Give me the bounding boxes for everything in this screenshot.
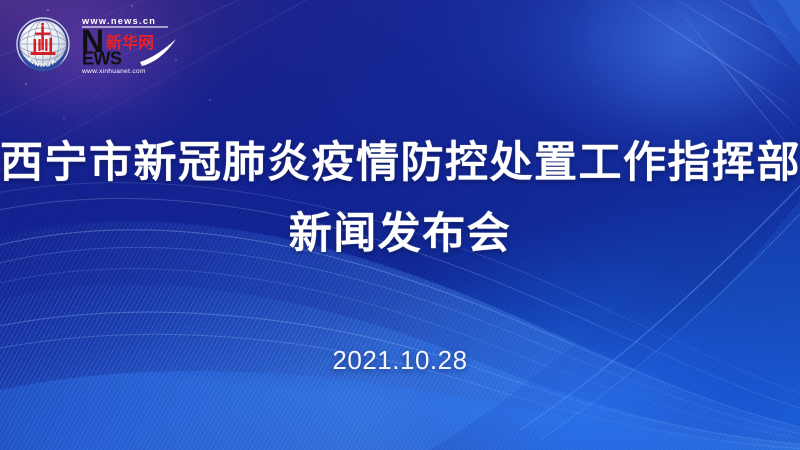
page-title-line-2: 新闻发布会 bbox=[0, 204, 800, 264]
xinhua-logo[interactable]: XINHUA www.news.cn N EWS 新华网 www.xinhuan… bbox=[14, 14, 188, 74]
xinhua-wordmark: www.news.cn N EWS 新华网 www.xinhuanet.com bbox=[80, 14, 188, 74]
title-block: 西宁市新冠肺炎疫情防控处置工作指挥部 新闻发布会 bbox=[0, 133, 800, 264]
xinhua-emblem-icon: XINHUA bbox=[14, 15, 72, 73]
press-conference-title-card: XINHUA www.news.cn N EWS 新华网 www.xinhuan… bbox=[0, 0, 800, 450]
page-title-line-1: 西宁市新冠肺炎疫情防控处置工作指挥部 bbox=[0, 133, 800, 193]
svg-text:新华网: 新华网 bbox=[106, 33, 154, 52]
event-date: 2021.10.28 bbox=[0, 345, 800, 376]
svg-text:www.xinhuanet.com: www.xinhuanet.com bbox=[81, 68, 146, 74]
